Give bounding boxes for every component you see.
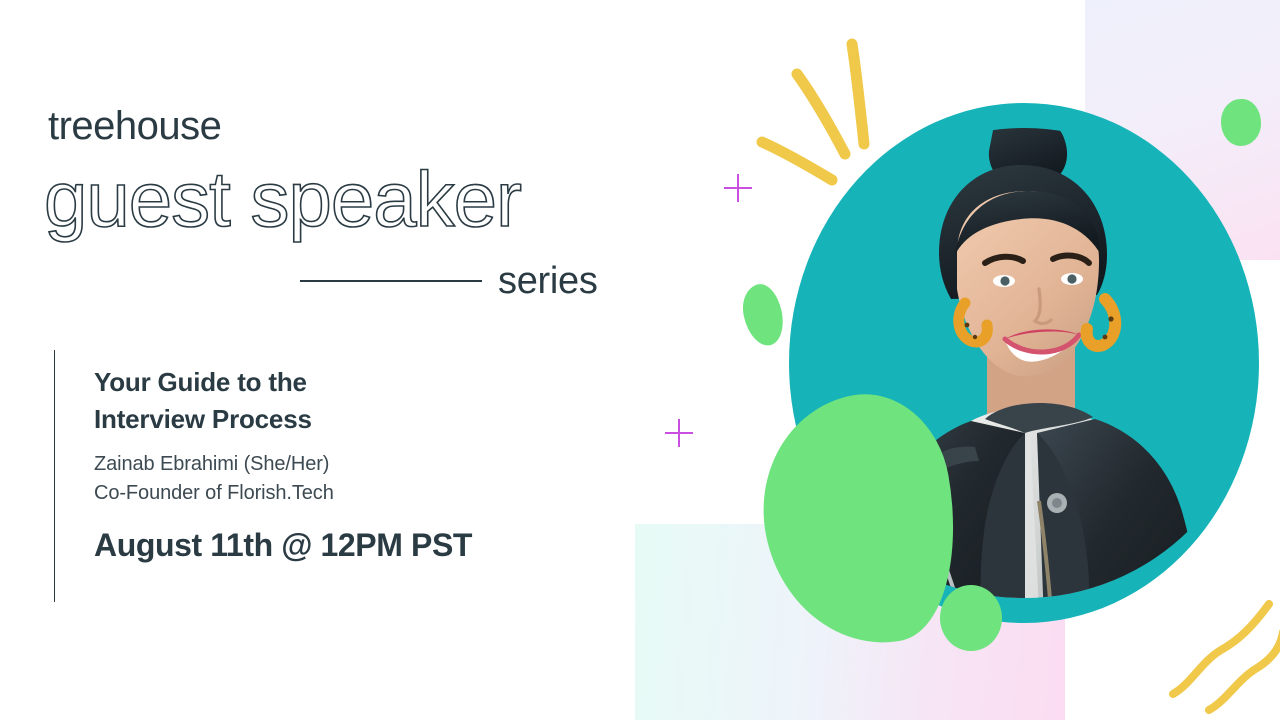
- series-row: series: [300, 258, 630, 304]
- series-divider-rule: [300, 280, 482, 282]
- promo-slide: treehouse guest speaker series Your Guid…: [0, 0, 1280, 720]
- purple-plus-icon: [724, 174, 752, 202]
- headline-guest-speaker: guest speaker: [44, 160, 521, 238]
- speaker-role: Co-Founder of Florish.Tech: [94, 479, 472, 508]
- event-datetime: August 11th @ 12PM PST: [94, 529, 472, 561]
- green-blob-shape: [738, 281, 788, 350]
- series-label: series: [498, 262, 598, 300]
- brand-wordmark: treehouse: [48, 106, 221, 146]
- talk-detail-block: Your Guide to the Interview Process Zain…: [54, 350, 472, 602]
- speaker-name: Zainab Ebrahimi (She/Her): [94, 450, 472, 479]
- green-circle-shape: [940, 585, 1002, 651]
- green-circle-shape: [1221, 99, 1261, 146]
- talk-title: Your Guide to the Interview Process: [94, 364, 472, 439]
- purple-plus-icon: [665, 419, 693, 447]
